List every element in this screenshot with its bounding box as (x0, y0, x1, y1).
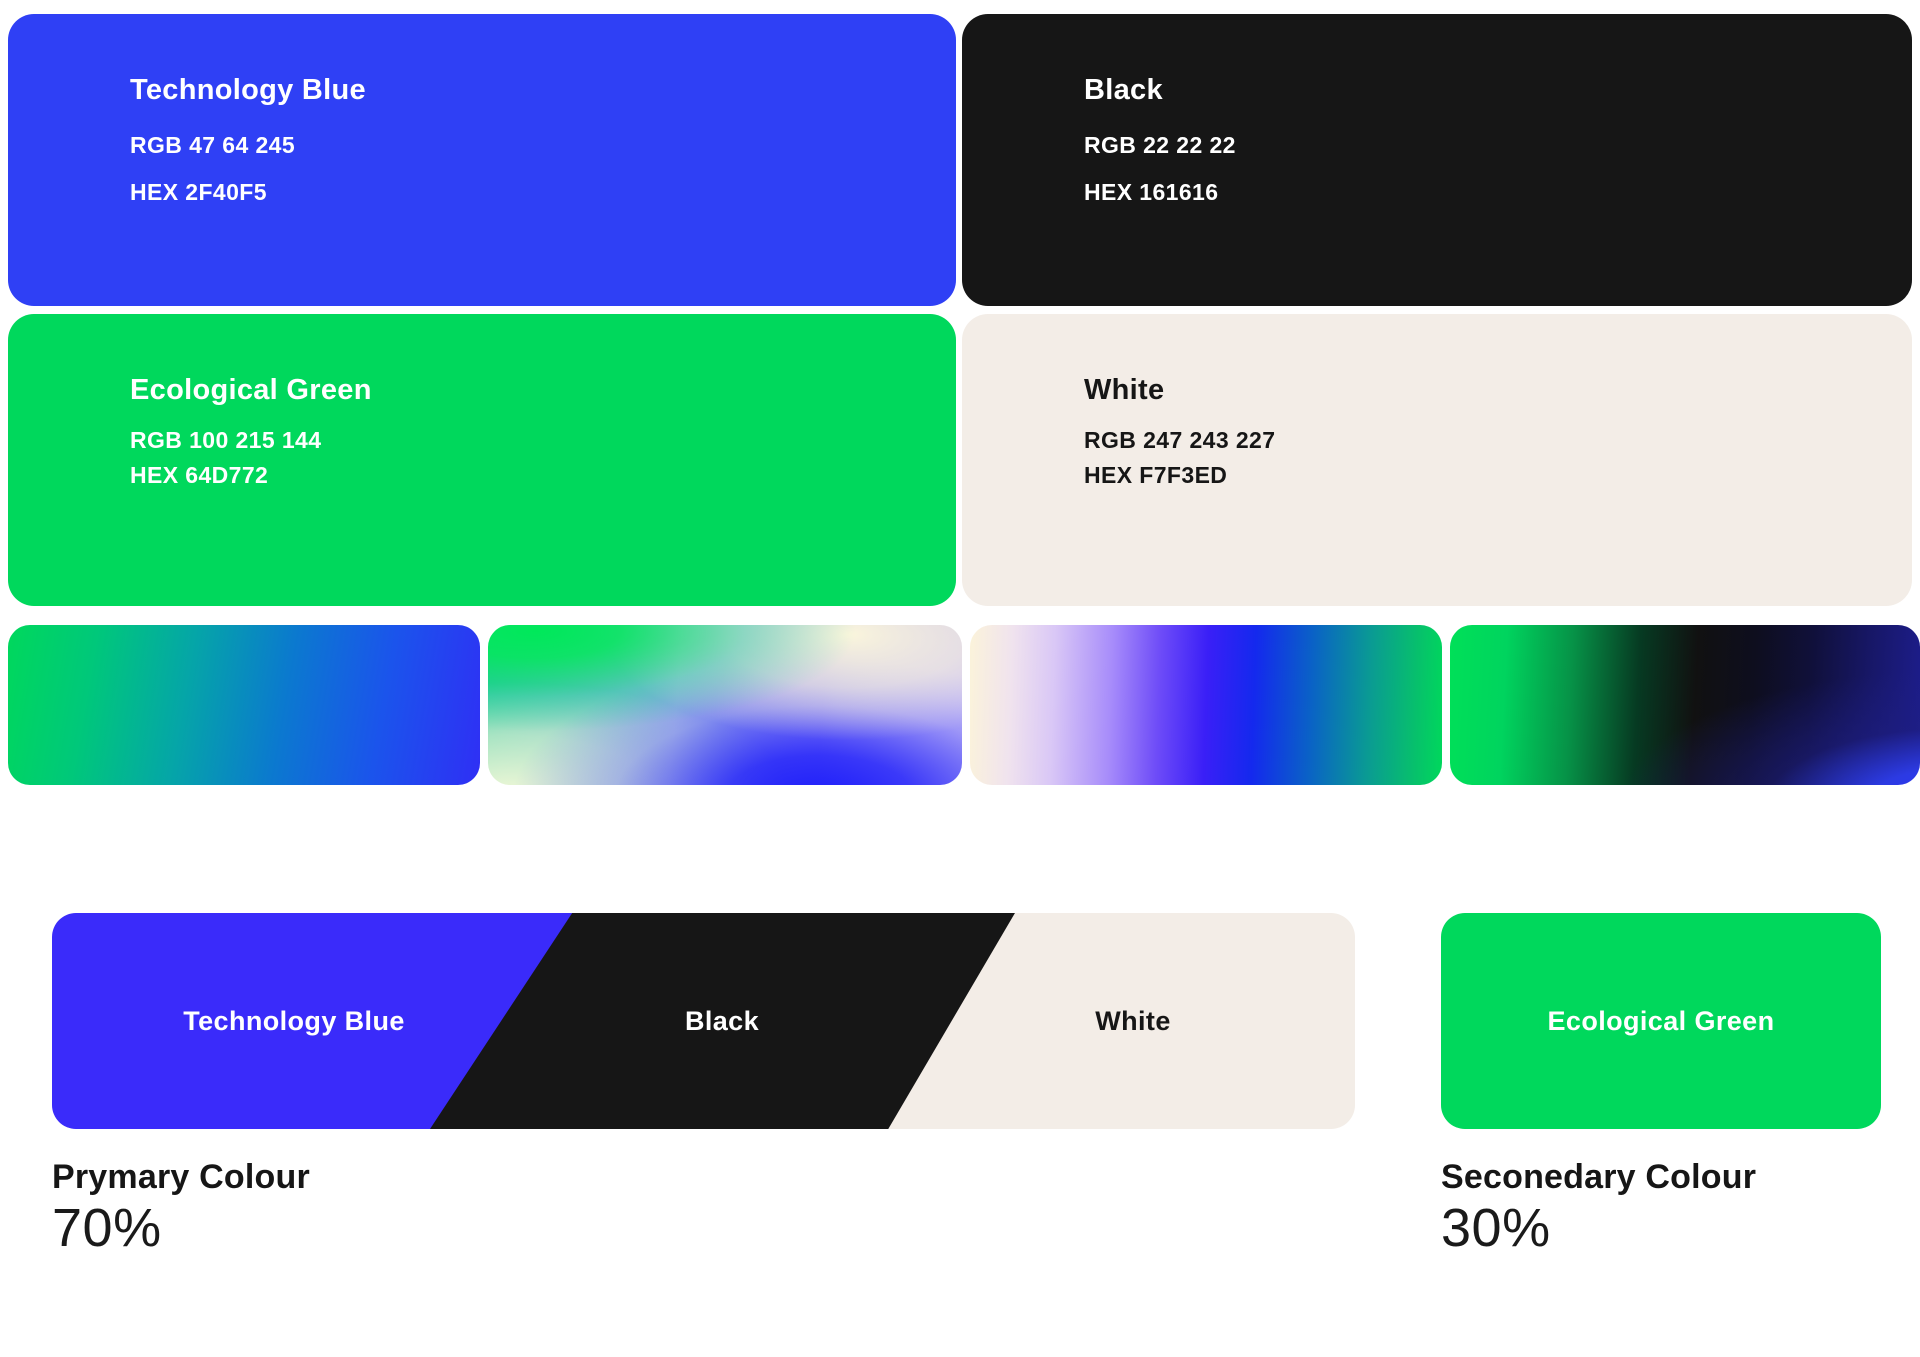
swatch-card-technology-blue: Technology Blue RGB 47 64 245 HEX 2F40F5 (8, 14, 956, 306)
swatch-card-ecological-green: Ecological Green RGB 100 215 144 HEX 64D… (8, 314, 956, 606)
swatch-hex-ecological-green: HEX 64D772 (130, 464, 372, 487)
colour-palette-board: Technology Blue RGB 47 64 245 HEX 2F40F5… (0, 0, 1920, 1357)
primary-segment-label-technology-blue: Technology Blue (183, 1006, 405, 1037)
swatch-card-black: Black RGB 22 22 22 HEX 161616 (962, 14, 1912, 306)
secondary-colour-caption: Seconedary Colour 30% (1441, 1160, 1756, 1262)
swatch-text-group: Black RGB 22 22 22 HEX 161616 (1084, 76, 1236, 204)
gradient-swatch-green-cream-blue-mesh (488, 625, 962, 785)
swatch-card-white: White RGB 247 243 227 HEX F7F3ED (962, 314, 1912, 606)
swatch-text-group: White RGB 247 243 227 HEX F7F3ED (1084, 376, 1275, 487)
secondary-colour-title: Seconedary Colour (1441, 1160, 1756, 1196)
swatch-name-ecological-green: Ecological Green (130, 376, 372, 405)
gradient-swatch-green-black-navy (1450, 625, 1920, 785)
secondary-segment-label-ecological-green: Ecological Green (1548, 1006, 1775, 1037)
swatch-rgb-black: RGB 22 22 22 (1084, 134, 1236, 157)
gradient-swatch-green-blue (8, 625, 480, 785)
primary-segment-label-white: White (1095, 1006, 1171, 1037)
swatch-hex-black: HEX 161616 (1084, 181, 1236, 204)
swatch-hex-technology-blue: HEX 2F40F5 (130, 181, 366, 204)
primary-colour-caption: Prymary Colour 70% (52, 1160, 310, 1262)
secondary-colour-bar: Ecological Green (1441, 913, 1881, 1129)
swatch-name-white: White (1084, 376, 1275, 405)
swatch-rgb-white: RGB 247 243 227 (1084, 429, 1275, 452)
primary-segment-label-black: Black (685, 1006, 759, 1037)
swatch-rgb-technology-blue: RGB 47 64 245 (130, 134, 366, 157)
swatch-text-group: Ecological Green RGB 100 215 144 HEX 64D… (130, 376, 372, 487)
primary-colour-percentage: 70% (52, 1196, 310, 1262)
swatch-text-group: Technology Blue RGB 47 64 245 HEX 2F40F5 (130, 76, 366, 204)
swatch-hex-white: HEX F7F3ED (1084, 464, 1275, 487)
swatch-name-technology-blue: Technology Blue (130, 76, 366, 105)
primary-colour-title: Prymary Colour (52, 1160, 310, 1196)
gradient-swatch-cream-violet-green (970, 625, 1442, 785)
primary-colour-bar: Technology Blue Black White (52, 913, 1355, 1129)
secondary-colour-percentage: 30% (1441, 1196, 1756, 1262)
swatch-rgb-ecological-green: RGB 100 215 144 (130, 429, 372, 452)
swatch-name-black: Black (1084, 76, 1236, 105)
